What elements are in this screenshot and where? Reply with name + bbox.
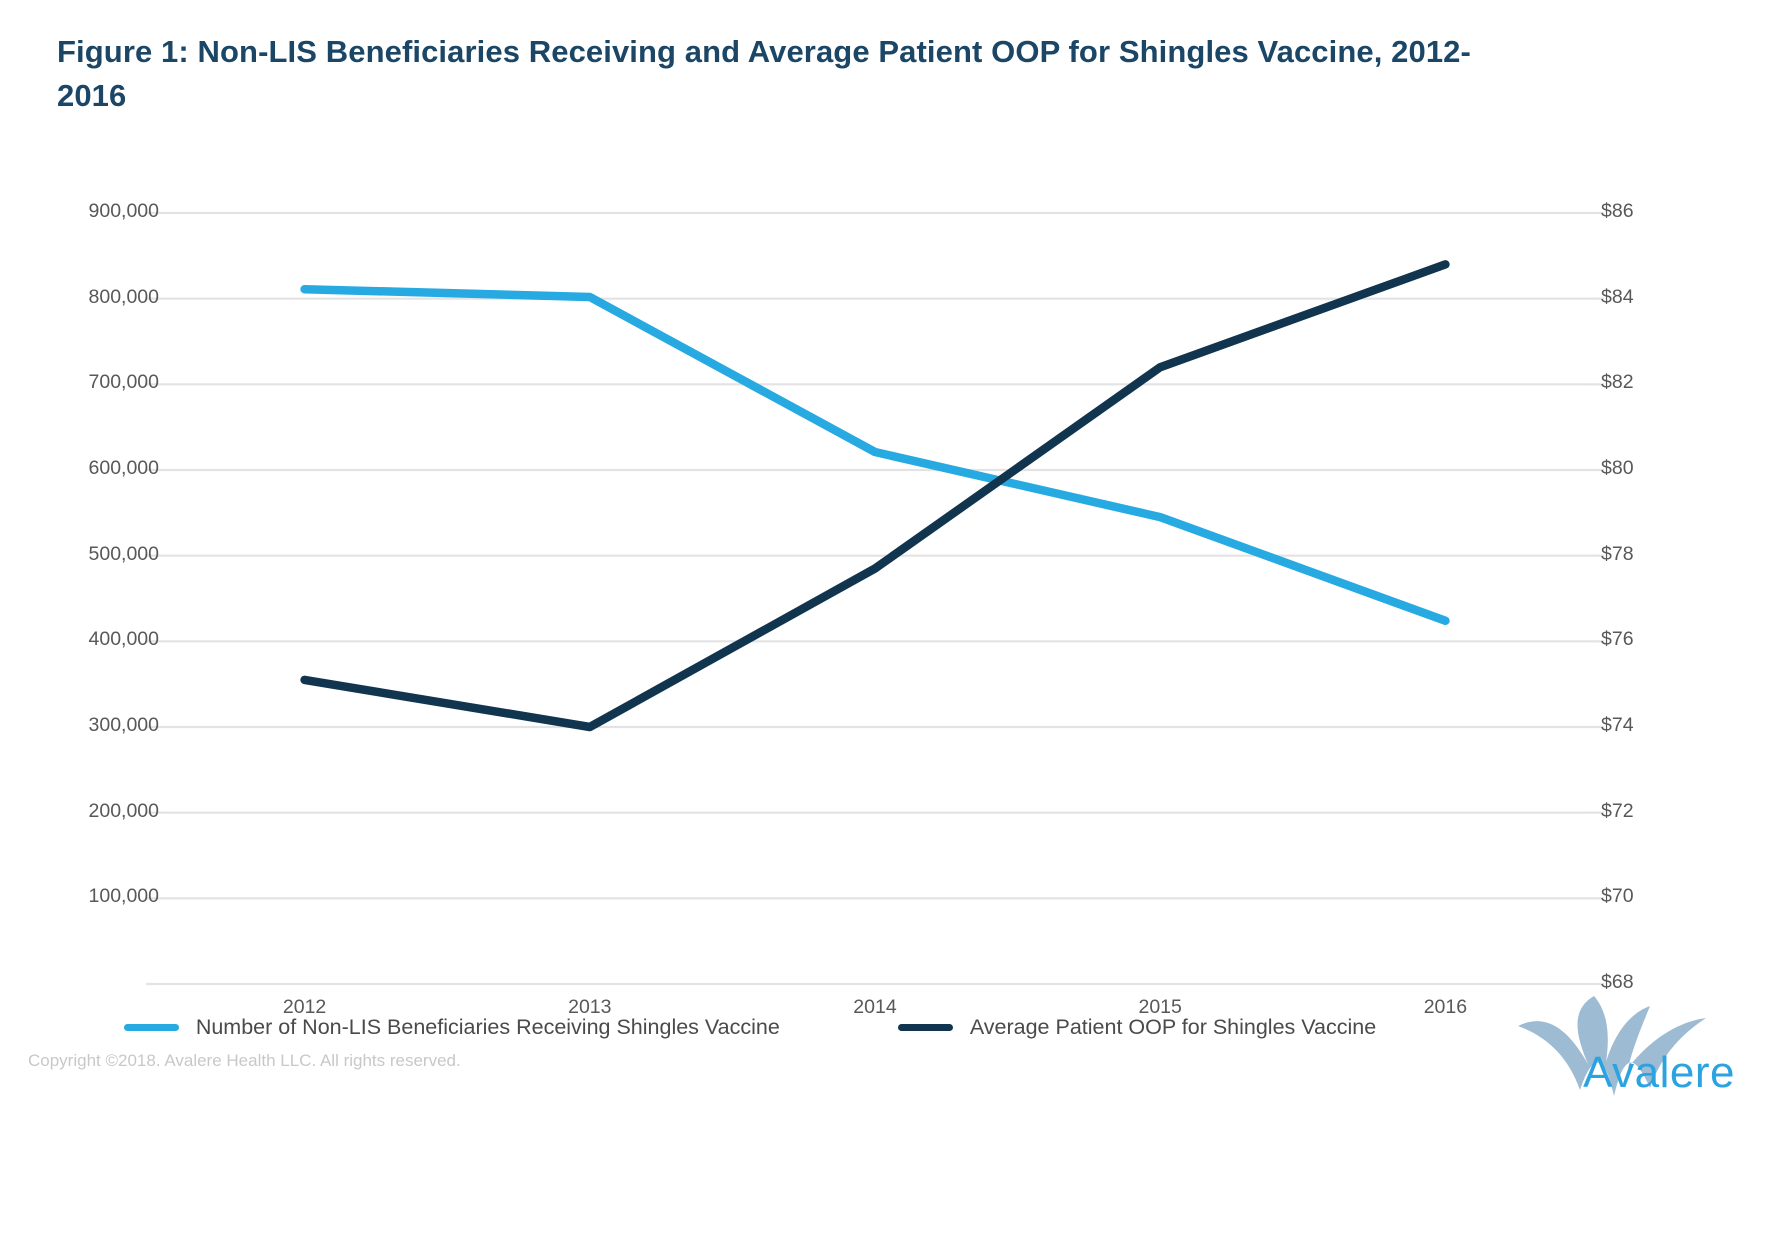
y-axis-right-tick-label: $86 [1601, 200, 1634, 223]
y-axis-left-tick-label: 500,000 [89, 543, 160, 566]
legend-item-beneficiaries[interactable]: Number of Non-LIS Beneficiaries Receivin… [124, 1015, 780, 1040]
y-axis-right-tick-label: $82 [1601, 371, 1634, 394]
y-axis-right-tick-label: $70 [1601, 885, 1634, 908]
y-axis-left-tick-label: 600,000 [89, 457, 160, 480]
legend-item-oop[interactable]: Average Patient OOP for Shingles Vaccine [898, 1015, 1376, 1040]
y-axis-right-tick-label: $76 [1601, 628, 1634, 651]
y-axis-left-tick-label: 400,000 [89, 628, 160, 651]
legend-swatch-oop [898, 1024, 953, 1031]
y-axis-left-tick-label: 200,000 [89, 800, 160, 823]
y-axis-right-tick-label: $80 [1601, 457, 1634, 480]
legend-label-oop: Average Patient OOP for Shingles Vaccine [970, 1015, 1376, 1040]
legend-swatch-beneficiaries [124, 1024, 179, 1031]
avalere-wordmark: Avalere [1583, 1051, 1735, 1095]
y-axis-right-tick-label: $74 [1601, 714, 1634, 737]
series-line-oop [305, 264, 1446, 727]
y-axis-left-tick-label: 100,000 [89, 885, 160, 908]
y-axis-left-tick-label: 900,000 [89, 200, 160, 223]
y-axis-left-tick-label: 700,000 [89, 371, 160, 394]
y-axis-left-tick-label: 800,000 [89, 286, 160, 309]
legend-label-beneficiaries: Number of Non-LIS Beneficiaries Receivin… [196, 1015, 780, 1040]
y-axis-right-tick-label: $78 [1601, 543, 1634, 566]
chart-legend: Number of Non-LIS Beneficiaries Receivin… [0, 1015, 1500, 1040]
y-axis-right-tick-label: $72 [1601, 800, 1634, 823]
y-axis-right-tick-label: $84 [1601, 286, 1634, 309]
copyright-text: Copyright ©2018. Avalere Health LLC. All… [28, 1051, 461, 1071]
y-axis-right-tick-label: $68 [1601, 971, 1634, 994]
y-axis-left-tick-label: 300,000 [89, 714, 160, 737]
